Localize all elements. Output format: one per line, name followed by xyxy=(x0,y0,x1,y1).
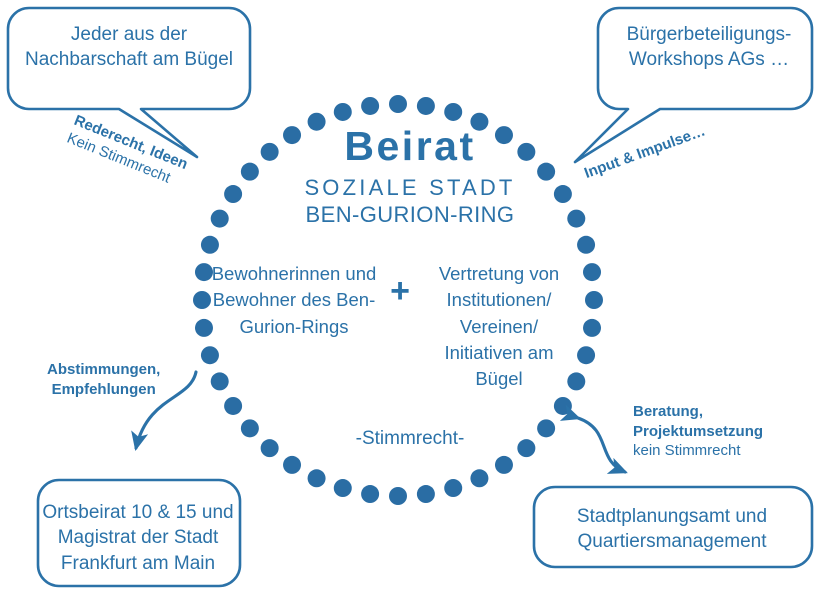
ring-dot xyxy=(201,236,219,254)
label-beratung-line1: Beratung, xyxy=(633,402,763,422)
ring-dot xyxy=(224,397,242,415)
ring-dot xyxy=(417,97,435,115)
ring-dot xyxy=(334,479,352,497)
ring-dot xyxy=(283,456,301,474)
center-subtitle-line2: BEN-GURION-RING xyxy=(0,203,820,226)
ring-dot xyxy=(389,95,407,113)
center-subtitle-line1: SOZIALE STADT xyxy=(0,176,820,199)
bubble-top-right-text: Bürgerbeteiligungs- Workshops AGs … xyxy=(606,22,812,73)
ring-dot xyxy=(577,346,595,364)
label-abstimmungen-line2: Empfehlungen xyxy=(47,380,160,400)
ring-dot xyxy=(334,103,352,121)
label-abstimmungen-line1: Abstimmungen, xyxy=(47,360,160,380)
ring-dot xyxy=(211,372,229,390)
ring-dot xyxy=(417,485,435,503)
ring-dot xyxy=(583,319,601,337)
bubble-top-left-text: Jeder aus der Nachbarschaft am Bügel xyxy=(22,22,236,73)
ring-dot xyxy=(444,479,462,497)
diagram-canvas: Beirat SOZIALE STADT BEN-GURION-RING Bew… xyxy=(0,0,820,600)
ring-dot xyxy=(444,103,462,121)
label-abstimmungen-empfehlungen: Abstimmungen,Empfehlungen xyxy=(47,360,160,399)
plus-icon: + xyxy=(384,276,416,308)
center-right-column: Vertretung von Institutionen/ Vereinen/ … xyxy=(424,261,574,392)
label-beratung-line3: kein Stimmrecht xyxy=(633,441,763,461)
ring-dot xyxy=(308,469,326,487)
ring-dot xyxy=(585,291,603,309)
label-beratung-projektumsetzung: Beratung, Projektumsetzung kein Stimmrec… xyxy=(633,402,763,461)
label-beratung-line2: Projektumsetzung xyxy=(633,422,763,442)
ring-dot xyxy=(554,397,572,415)
ring-dot xyxy=(389,487,407,505)
ring-dot xyxy=(495,456,513,474)
center-left-column: Bewohnerinnen und Bewohner des Ben-Gurio… xyxy=(206,261,382,340)
box-bottom-left-text: Ortsbeirat 10 & 15 und Magistrat der Sta… xyxy=(38,500,238,576)
ring-dot xyxy=(577,236,595,254)
ring-dot xyxy=(361,485,379,503)
ring-dot xyxy=(470,469,488,487)
ring-dot xyxy=(583,263,601,281)
box-bottom-right-text: Stadtplanungsamt und Quartiersmanagement xyxy=(536,504,808,555)
ring-dot xyxy=(361,97,379,115)
ring-dot xyxy=(201,346,219,364)
